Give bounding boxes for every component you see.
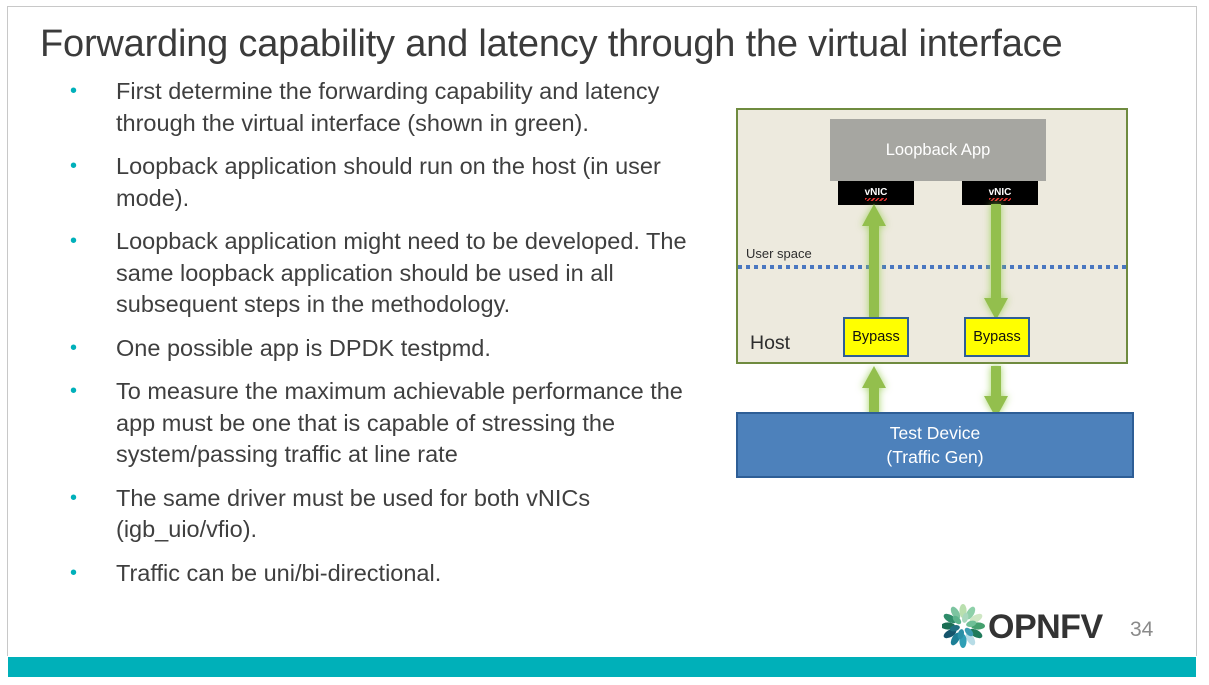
bullet-marker-icon: • bbox=[70, 226, 77, 258]
page-number: 34 bbox=[1130, 618, 1153, 642]
bullet-text: The same driver must be used for both vN… bbox=[116, 483, 716, 546]
vnic-left-label: vNIC bbox=[865, 187, 888, 200]
host-label: Host bbox=[750, 332, 790, 355]
bullet-marker-icon: • bbox=[70, 558, 77, 590]
list-item: • First determine the forwarding capabil… bbox=[68, 76, 716, 139]
bypass-left-box: Bypass bbox=[843, 317, 909, 357]
arrow-down-icon bbox=[983, 204, 1009, 320]
list-item: • One possible app is DPDK testpmd. bbox=[68, 333, 716, 365]
user-kernel-boundary-divider bbox=[738, 265, 1126, 269]
user-space-label: User space bbox=[746, 246, 812, 261]
bypass-right-box: Bypass bbox=[964, 317, 1030, 357]
bullet-text: To measure the maximum achievable perfor… bbox=[116, 376, 716, 471]
list-item: • To measure the maximum achievable perf… bbox=[68, 376, 716, 471]
test-device-box: Test Device (Traffic Gen) bbox=[736, 412, 1134, 478]
opnfv-wordmark: OPNFV bbox=[988, 608, 1103, 646]
bullet-marker-icon: • bbox=[70, 151, 77, 183]
list-item: • Traffic can be uni/bi-directional. bbox=[68, 558, 716, 590]
vnic-left-box: vNIC bbox=[838, 181, 914, 205]
bullet-list: • First determine the forwarding capabil… bbox=[68, 76, 716, 601]
slide-title: Forwarding capability and latency throug… bbox=[40, 20, 1160, 68]
test-device-subtitle: (Traffic Gen) bbox=[886, 445, 983, 469]
slide-frame-top bbox=[7, 6, 1197, 7]
architecture-diagram: Loopback App vNIC vNIC User space Host B… bbox=[736, 108, 1136, 478]
bullet-text: Loopback application should run on the h… bbox=[116, 151, 716, 214]
bullet-marker-icon: • bbox=[70, 376, 77, 408]
vnic-right-box: vNIC bbox=[962, 181, 1038, 205]
arrow-up-icon bbox=[861, 204, 887, 320]
bullet-marker-icon: • bbox=[70, 483, 77, 515]
slide-frame-left bbox=[7, 6, 8, 656]
vnic-right-label: vNIC bbox=[989, 187, 1012, 200]
opnfv-logo: OPNFV bbox=[942, 603, 1106, 649]
bullet-marker-icon: • bbox=[70, 333, 77, 365]
bullet-text: Loopback application might need to be de… bbox=[116, 226, 716, 321]
list-item: • The same driver must be used for both … bbox=[68, 483, 716, 546]
bullet-text: First determine the forwarding capabilit… bbox=[116, 76, 716, 139]
loopback-app-box: Loopback App bbox=[830, 119, 1046, 181]
arrow-up-icon bbox=[861, 366, 887, 418]
slide-canvas: Forwarding capability and latency throug… bbox=[0, 0, 1209, 685]
bullet-marker-icon: • bbox=[70, 76, 77, 108]
slide-frame-right bbox=[1196, 6, 1197, 656]
bullet-text: One possible app is DPDK testpmd. bbox=[116, 333, 716, 365]
test-device-title: Test Device bbox=[890, 421, 980, 445]
opnfv-flower-icon bbox=[942, 604, 985, 648]
bullet-text: Traffic can be uni/bi-directional. bbox=[116, 558, 716, 590]
list-item: • Loopback application should run on the… bbox=[68, 151, 716, 214]
arrow-down-icon bbox=[983, 366, 1009, 418]
footer-accent-bar bbox=[8, 657, 1196, 677]
list-item: • Loopback application might need to be … bbox=[68, 226, 716, 321]
